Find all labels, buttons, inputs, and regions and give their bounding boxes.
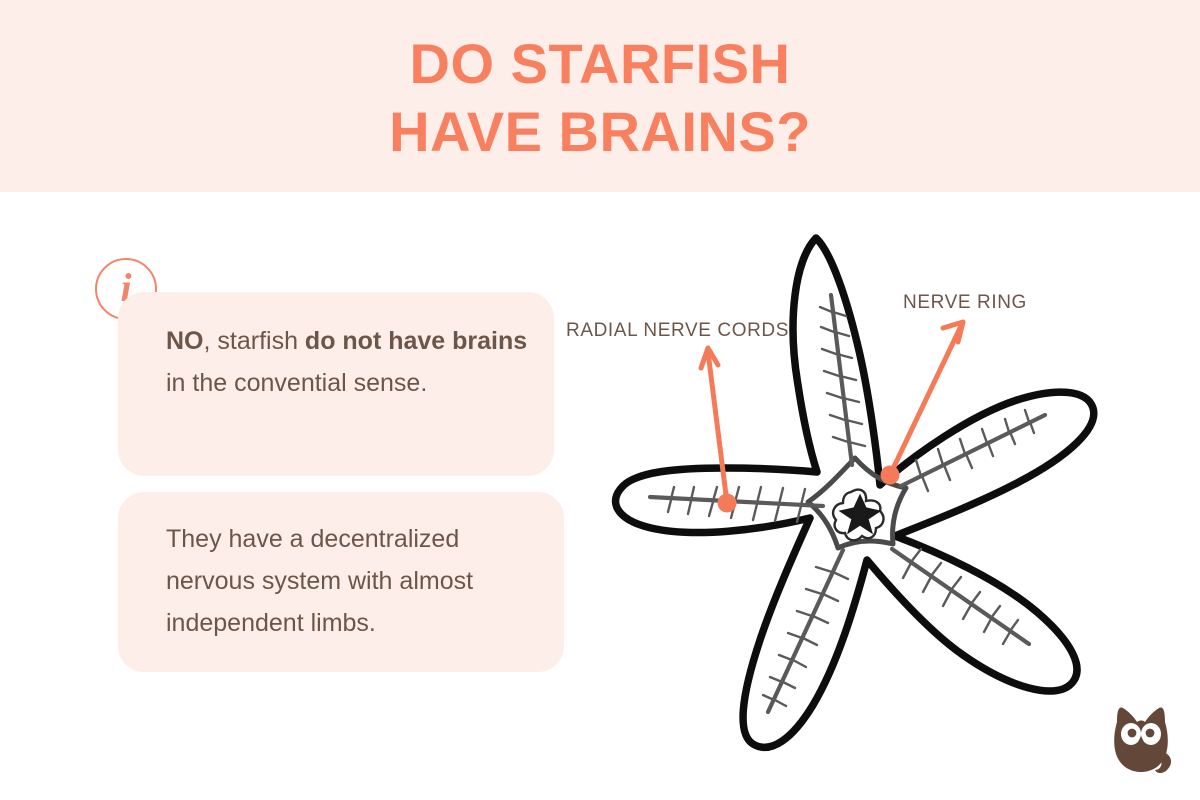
title-line-2: HAVE BRAINS? [0,98,1200,166]
starfish-diagram [555,200,1155,760]
nerve-ring-marker [881,466,900,485]
nerve-ring-label: NERVE RING [903,292,1027,314]
answer-card-text: NO, starfish do not have brains in the c… [166,320,532,404]
detail-card: They have a decentralized nervous system… [118,492,564,672]
radial-nerve-cords-label: RADIAL NERVE CORDS [566,320,789,342]
answer-emphasis-no: NO [166,327,204,355]
owl-logo [1105,700,1177,778]
radial-nerve-cords-marker [718,494,737,513]
owl-pupil-left [1128,729,1137,738]
answer-card: NO, starfish do not have brains in the c… [118,292,554,476]
page-title: DO STARFISH HAVE BRAINS? [0,30,1200,166]
answer-text-tail: in the convential sense. [166,369,427,397]
answer-text-mid1: , starfish [204,327,305,355]
answer-emphasis-donothave: do not have brains [305,327,527,355]
detail-card-text: They have a decentralized nervous system… [166,518,540,644]
owl-pupil-right [1146,729,1155,738]
infographic-page: DO STARFISH HAVE BRAINS? i NO, starfish … [0,0,1200,800]
title-line-1: DO STARFISH [0,30,1200,98]
